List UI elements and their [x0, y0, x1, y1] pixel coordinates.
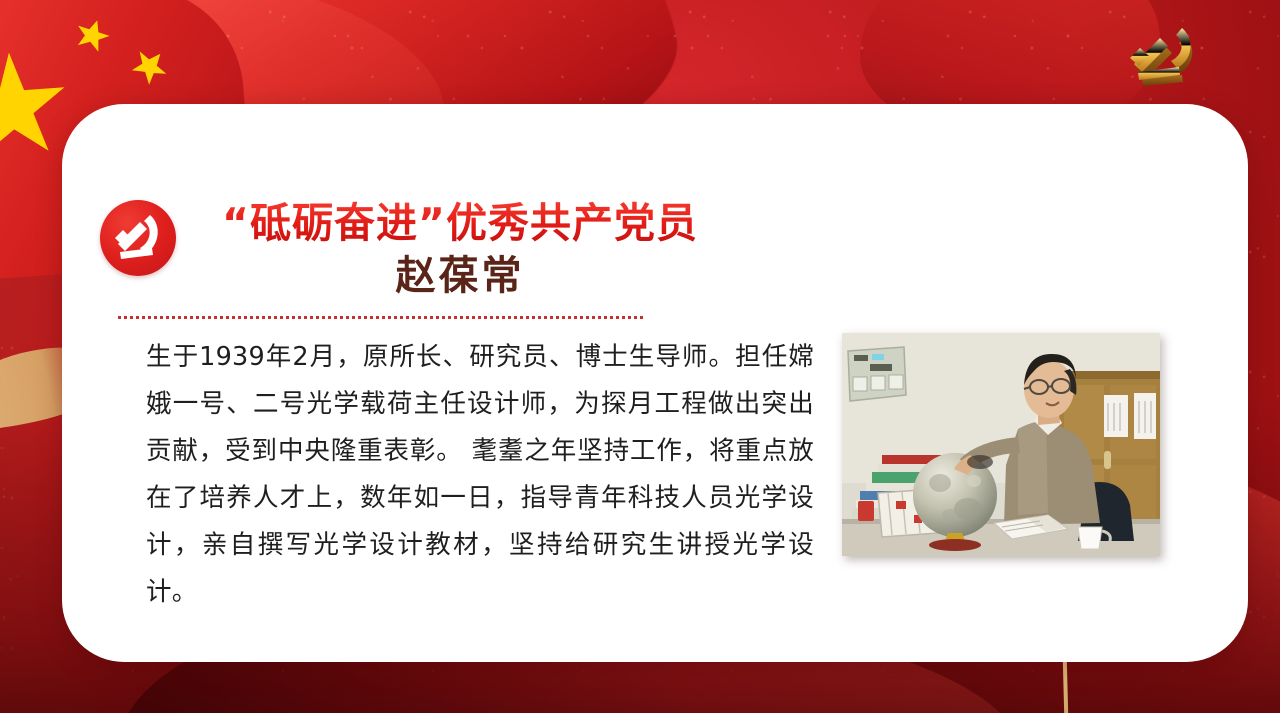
title-person-name: 赵葆常 [190, 253, 730, 299]
title-honor-text: “砥砺奋进”优秀共产党员 [190, 200, 730, 248]
title-dotted-divider [118, 316, 644, 319]
portrait-photo [842, 333, 1160, 556]
slide-root: “砥砺奋进”优秀共产党员 赵葆常 生于1939年2月，原所长、研究员、博士生导师… [0, 0, 1280, 720]
flag-star-small-2 [127, 43, 174, 89]
bottom-white-strip [0, 713, 1280, 720]
flag-star-large [0, 49, 69, 157]
photo-wall-panel [848, 347, 906, 401]
gold-hammer-sickle-emblem-icon [1122, 22, 1214, 96]
photo-illustration [842, 333, 1160, 556]
page-title: “砥砺奋进”优秀共产党员 赵葆常 [190, 200, 730, 299]
flag-star-small-1 [72, 15, 113, 53]
party-emblem-hammer-sickle-icon [100, 200, 176, 276]
badge-glyph [115, 215, 158, 259]
biography-paragraph: 生于1939年2月，原所长、研究员、博士生导师。担任嫦娥一号、二号光学载荷主任设… [146, 334, 814, 616]
photo-cup-red [858, 501, 874, 521]
